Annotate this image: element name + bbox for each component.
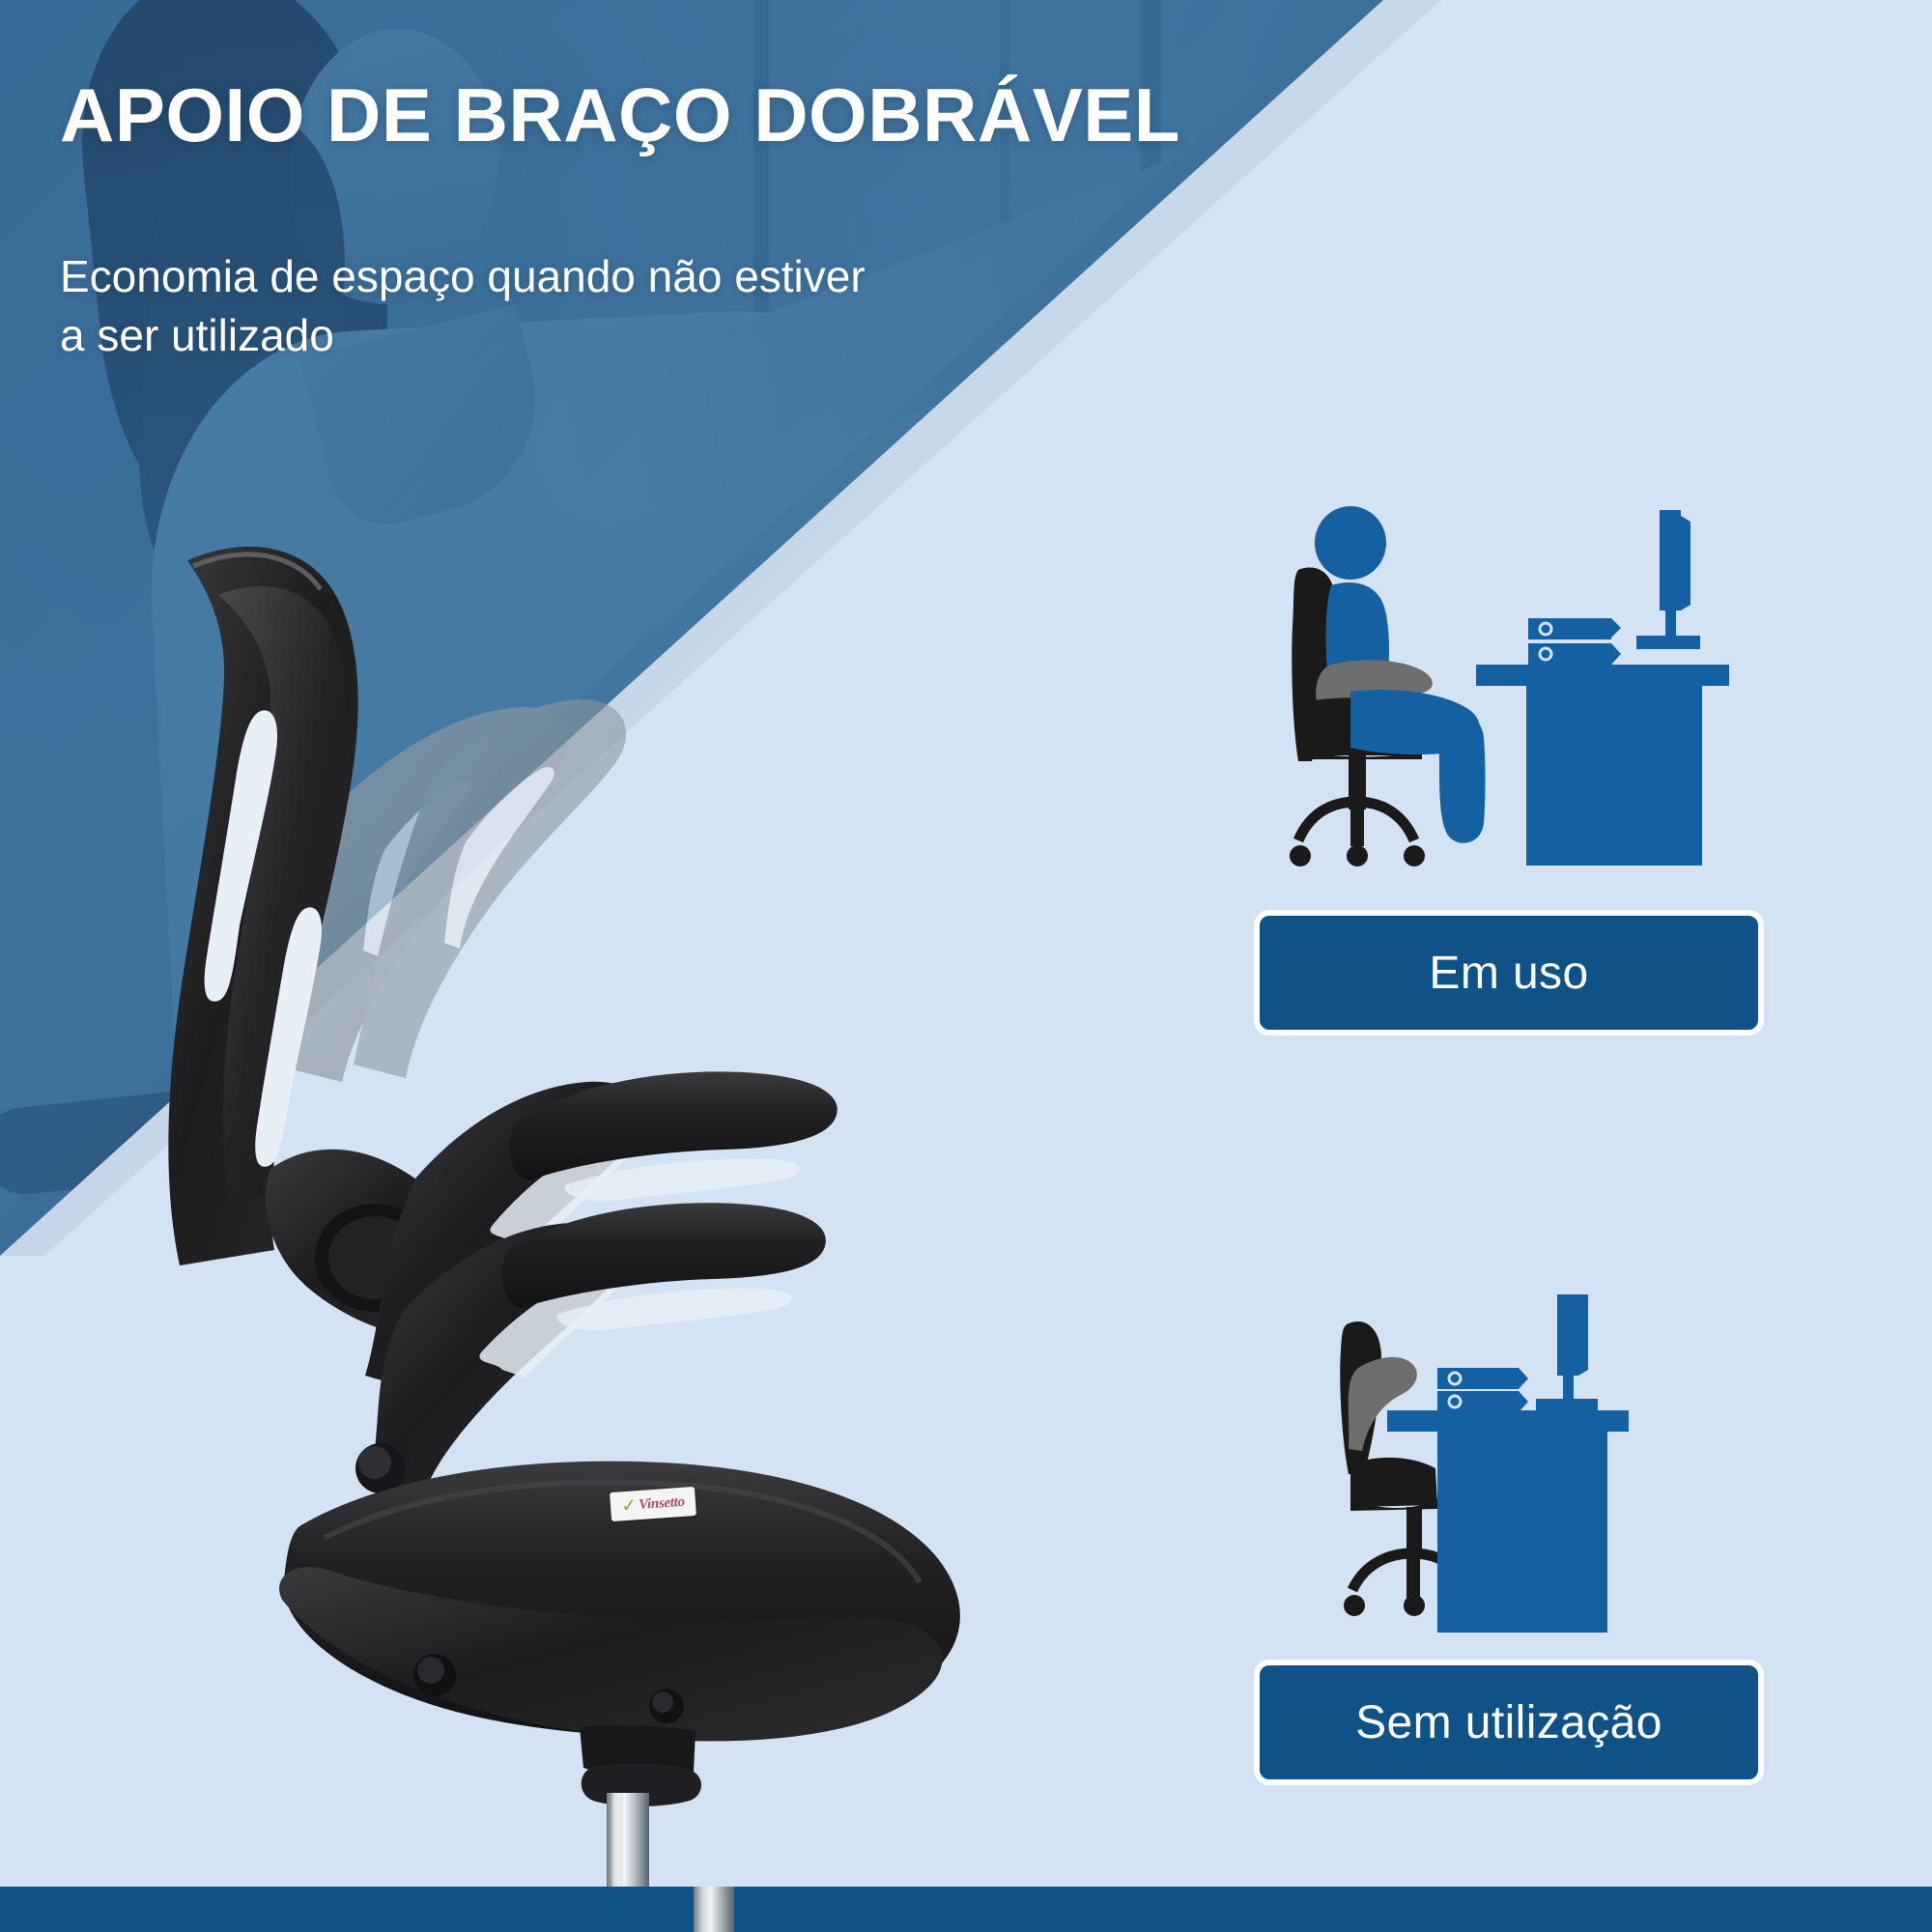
person-seated-at-desk-icon [1256,502,1758,889]
subtitle-line-1: Economia de espaço quando não estiver [60,247,866,306]
chair-tucked-under-desk-icon [1294,1294,1748,1652]
page-subtitle: Economia de espaço quando não estiver a … [60,247,866,364]
page-title: APOIO DE BRAÇO DOBRÁVEL [60,75,1180,156]
state-label-in-use[interactable]: Em uso [1254,910,1764,1036]
product-chair-image [126,502,1150,1913]
footer-bar [0,1887,1932,1932]
subtitle-line-2: a ser utilizado [60,306,866,365]
state-label-not-in-use[interactable]: Sem utilização [1254,1660,1764,1785]
banner-root: APOIO DE BRAÇO DOBRÁVEL Economia de espa… [0,0,1932,1932]
gas-cylinder-over-footer [694,1887,734,1932]
brand-label: ✓ Vinsetto [610,1487,696,1521]
brand-check-icon: ✓ [621,1496,638,1516]
gas-cylinder [580,1725,701,1913]
brand-name: Vinsetto [639,1494,686,1512]
